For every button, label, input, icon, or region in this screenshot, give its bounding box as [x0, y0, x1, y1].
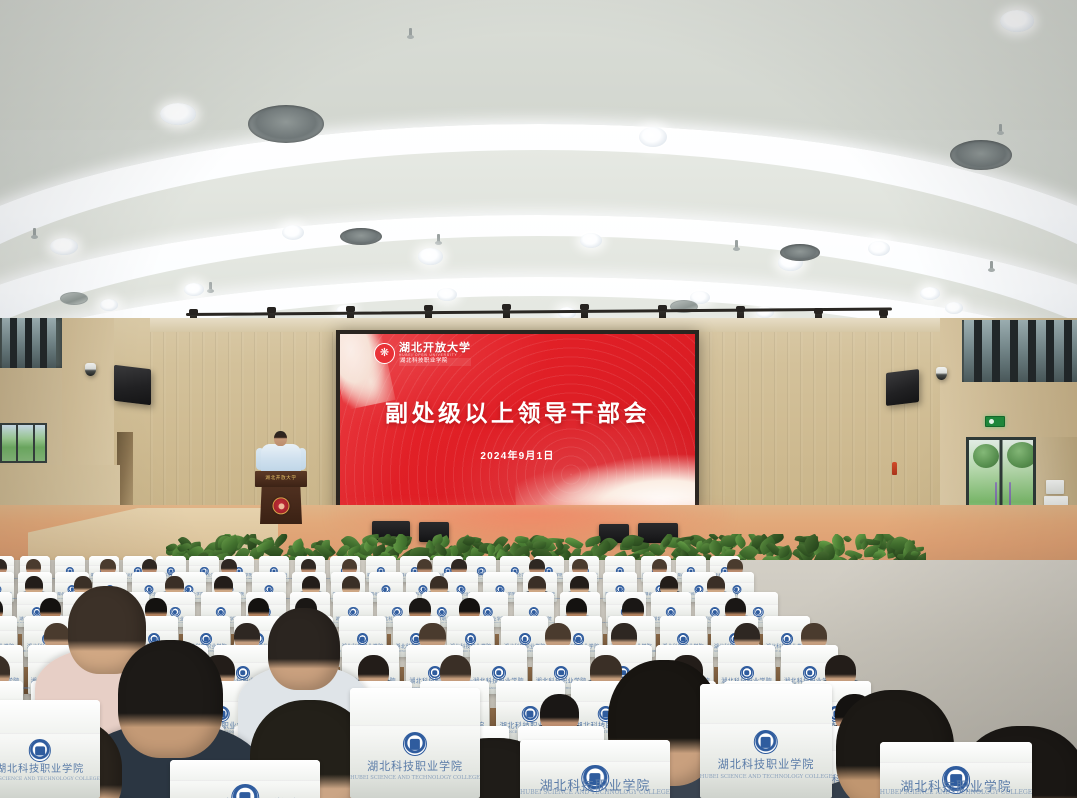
left-window: [0, 423, 47, 463]
podium-engraved-text: 湖北开放大学: [259, 475, 303, 482]
led-display-frame: ❋ 湖北开放大学 HUBEI OPEN UNIVERSITY 湖北科技职业学院 …: [336, 330, 699, 513]
foreground-attendee: [118, 640, 223, 758]
ceiling-downlight: [437, 288, 457, 301]
attendee-head: [118, 640, 223, 758]
chair-cover-top: [156, 556, 186, 566]
chair-cover-text-en: HUBEI SCIENCE AND TECHNOLOGY COLLEGE: [0, 778, 100, 783]
sprinkler-head: [33, 228, 36, 237]
fire-extinguisher: [892, 462, 897, 475]
podium-university-seal-icon: [273, 497, 290, 514]
ceiling-downlight: [160, 103, 196, 125]
chair-cover-text-en: HUBEI SCIENCE AND TECHNOLOGY COLLEGE: [880, 790, 1032, 796]
chair-cover-top: [447, 616, 494, 631]
presenter-head: [274, 431, 287, 446]
chair-cover-text-cn: 湖北科技职业学院: [0, 765, 84, 775]
sprinkler-head: [209, 282, 212, 291]
chair-cover-top: [533, 645, 590, 663]
ceiling-downlight: [418, 248, 443, 265]
chair-cover-top: [603, 572, 637, 583]
foreground-attendee: [268, 608, 340, 690]
chair-cover-top: [55, 556, 85, 566]
chair-cover-top: [0, 572, 14, 583]
chair-cover-top: [183, 616, 230, 631]
chair-cover-top: [333, 592, 373, 605]
led-display-screen: ❋ 湖北开放大学 HUBEI OPEN UNIVERSITY 湖北科技职业学院 …: [340, 334, 695, 509]
university-logo-icon: ❋: [374, 343, 395, 364]
left-dome-camera: [85, 363, 96, 376]
ceiling-downlight: [920, 287, 940, 300]
chair-cover-top: [170, 760, 320, 781]
slide-date: 2024年9月1日: [340, 447, 695, 462]
presenter: [255, 431, 307, 475]
chair-college-emblem-icon: [754, 730, 778, 754]
ceiling-downlight: [184, 283, 204, 296]
ceiling-downlight-off: [248, 105, 324, 143]
conference-hall-photo: ❋ 湖北开放大学 HUBEI OPEN UNIVERSITY 湖北科技职业学院 …: [0, 0, 1077, 798]
chair-cover-top: [189, 556, 219, 566]
chair-cover-top: [350, 688, 480, 726]
chair-college-emblem-icon: [231, 784, 259, 798]
ceiling-downlight: [639, 127, 667, 147]
ceiling-downlight: [100, 299, 118, 311]
logo-name-sub: 湖北科技职业学院: [399, 358, 471, 365]
exit-sign: [985, 416, 1005, 427]
chair-cover-top: [466, 556, 496, 566]
ceiling-downlight: [1000, 10, 1034, 32]
right-dome-camera: [936, 367, 947, 380]
chair-cover-top: [339, 616, 386, 631]
chair-cover-text-cn: 湖北科技职业学院: [718, 759, 815, 770]
chair-cover-top: [651, 592, 691, 605]
left-wall-speaker: [114, 365, 151, 406]
logo-name-en: HUBEI OPEN UNIVERSITY: [399, 354, 471, 357]
front-row-chair[interactable]: 湖北科技职业学院HUBEI SCIENCE AND TECHNOLOGY COL…: [350, 688, 480, 798]
ceiling-downlight-off: [340, 228, 382, 245]
chair-cover-text-en: HUBEI SCIENCE AND TECHNOLOGY COLLEGE: [520, 790, 670, 796]
chair-cover-top: [605, 556, 635, 566]
ceiling-vent: [950, 140, 1012, 170]
front-row-chair[interactable]: 湖北科技职业学院HUBEI SCIENCE AND TECHNOLOGY COL…: [520, 740, 670, 798]
chair-cover-top: [132, 572, 166, 583]
chair-college-emblem-icon: [403, 732, 427, 756]
chair-cover-text-cn: 湖北科技职业学院: [367, 761, 463, 772]
ceiling-downlight-off: [780, 244, 820, 261]
ceiling-downlight: [868, 241, 890, 256]
chair-cover-top: [880, 742, 1032, 763]
chair-cover-top: [366, 556, 396, 566]
chair-cover-top: [700, 684, 832, 724]
chair-cover-text-en: HUBEI SCIENCE AND TECHNOLOGY COLLEGE: [700, 775, 833, 780]
sprinkler-head: [437, 234, 440, 243]
chair-cover-top: [520, 740, 670, 762]
right-wall-speaker: [886, 369, 919, 406]
attendee-head: [268, 608, 340, 690]
ceiling: [0, 0, 1077, 330]
chair-cover-top: [369, 572, 403, 583]
front-row-chair[interactable]: 湖北科技职业学院HUBEI SCIENCE AND TECHNOLOGY COL…: [170, 760, 320, 798]
slide-logo: ❋ 湖北开放大学 HUBEI OPEN UNIVERSITY 湖北科技职业学院: [374, 342, 471, 366]
chair-cover-top: [501, 616, 548, 631]
left-clerestory-window: [0, 318, 62, 368]
ceiling-air-vent: [60, 292, 88, 305]
chair-cover-top: [676, 556, 706, 566]
slide-title: 副处级以上领导干部会: [340, 394, 695, 428]
chair-cover-top: [0, 616, 17, 631]
ceiling-downlight: [282, 225, 304, 240]
logo-name-cn: 湖北开放大学: [399, 342, 471, 353]
sprinkler-head: [409, 28, 412, 37]
front-row-chair[interactable]: 湖北科技职业学院HUBEI SCIENCE AND TECHNOLOGY COL…: [700, 684, 832, 798]
chair-cover-top: [0, 700, 100, 734]
chair-college-emblem-icon: [29, 739, 51, 761]
chair-cover-top: [259, 556, 289, 566]
ceiling-downlight: [945, 302, 963, 314]
podium: 湖北开放大学: [258, 471, 304, 524]
sprinkler-head: [990, 261, 993, 270]
chair-cover-top: [483, 572, 517, 583]
chair-cover-top: [514, 592, 554, 605]
chair-cover-top: [93, 572, 127, 583]
right-clerestory-window: [962, 320, 1077, 382]
chair-college-emblem-icon: [522, 706, 539, 723]
podium-body: [260, 486, 302, 524]
chair-cover-top: [660, 616, 707, 631]
chair-cover-top: [470, 645, 527, 663]
sprinkler-head: [999, 124, 1002, 133]
podium-top: 湖北开放大学: [255, 471, 307, 487]
front-row-chair[interactable]: 湖北科技职业学院HUBEI SCIENCE AND TECHNOLOGY COL…: [880, 742, 1032, 798]
chair-cover-top: [500, 556, 530, 566]
chair-cover-top: [0, 681, 23, 702]
chair-cover-text-en: HUBEI SCIENCE AND TECHNOLOGY COLLEGE: [350, 776, 480, 781]
ceiling-downlight: [580, 233, 602, 248]
right-table-items: [1046, 480, 1064, 494]
chair-cover-top: [444, 572, 478, 583]
front-row-chair[interactable]: 湖北科技职业学院HUBEI SCIENCE AND TECHNOLOGY COL…: [0, 700, 100, 798]
sprinkler-head: [735, 240, 738, 249]
chair-cover-top: [252, 572, 286, 583]
ceiling-downlight: [50, 238, 78, 255]
chair-cover-top: [718, 645, 775, 663]
chair-cover-top: [201, 592, 241, 605]
